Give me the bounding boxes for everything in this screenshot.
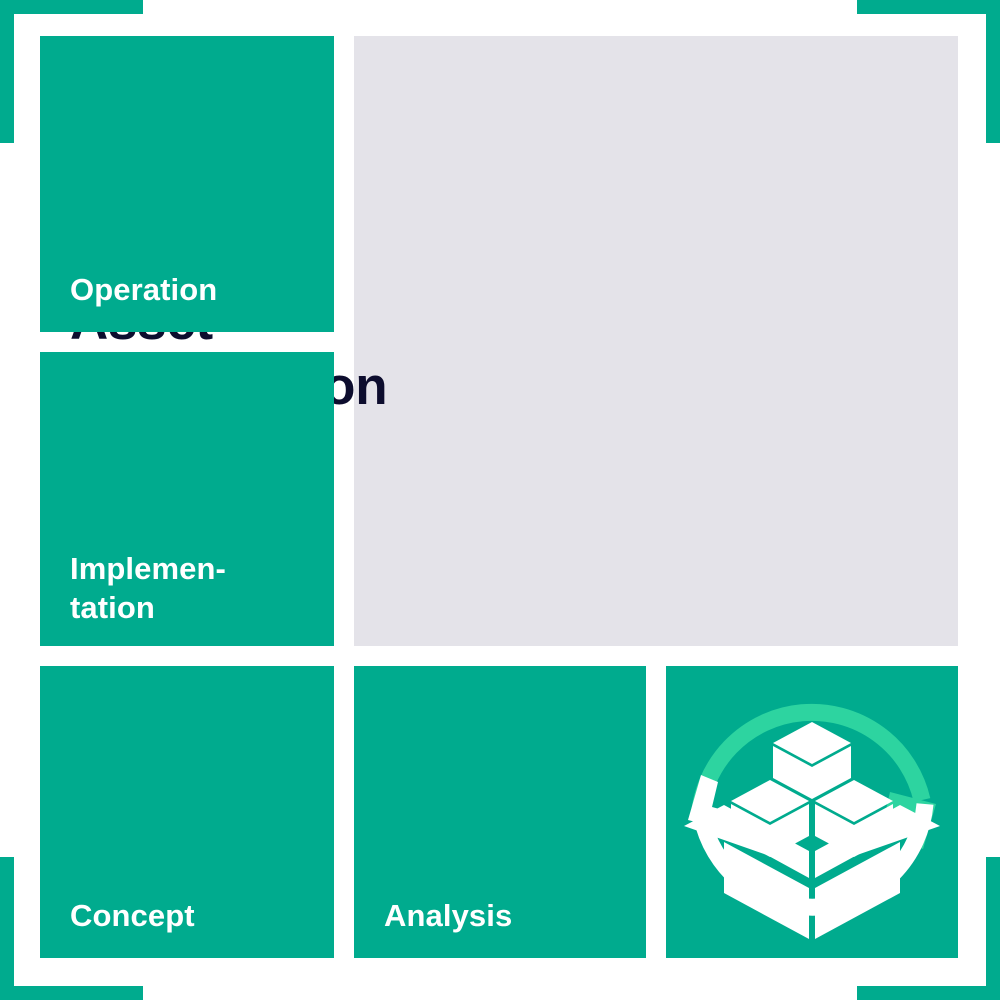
- bracket-arm-horizontal: [857, 986, 1000, 1000]
- tile-analysis[interactable]: Analysis: [354, 666, 646, 958]
- bracket-arm-horizontal: [857, 0, 1000, 14]
- tile-label-implementation: Implemen- tation: [70, 549, 226, 628]
- tile-operation[interactable]: Operation: [40, 36, 334, 332]
- tile-label-analysis: Analysis: [384, 896, 512, 936]
- tile-concept[interactable]: Concept: [40, 666, 334, 958]
- bracket-arm-vertical: [0, 0, 14, 143]
- infographic-canvas: Asset Optimization Services Operation Im…: [0, 0, 1000, 1000]
- bracket-arm-horizontal: [0, 0, 143, 14]
- asset-optimization-cycle-icon: [666, 666, 958, 958]
- tile-icon-panel[interactable]: [666, 666, 958, 958]
- bracket-arm-vertical: [0, 857, 14, 1000]
- headline-panel: [354, 36, 958, 646]
- bracket-arm-vertical: [986, 0, 1000, 143]
- tile-implementation[interactable]: Implemen- tation: [40, 352, 334, 646]
- bracket-arm-vertical: [986, 857, 1000, 1000]
- tile-label-operation: Operation: [70, 270, 217, 310]
- bracket-arm-horizontal: [0, 986, 143, 1000]
- tile-label-concept: Concept: [70, 896, 195, 936]
